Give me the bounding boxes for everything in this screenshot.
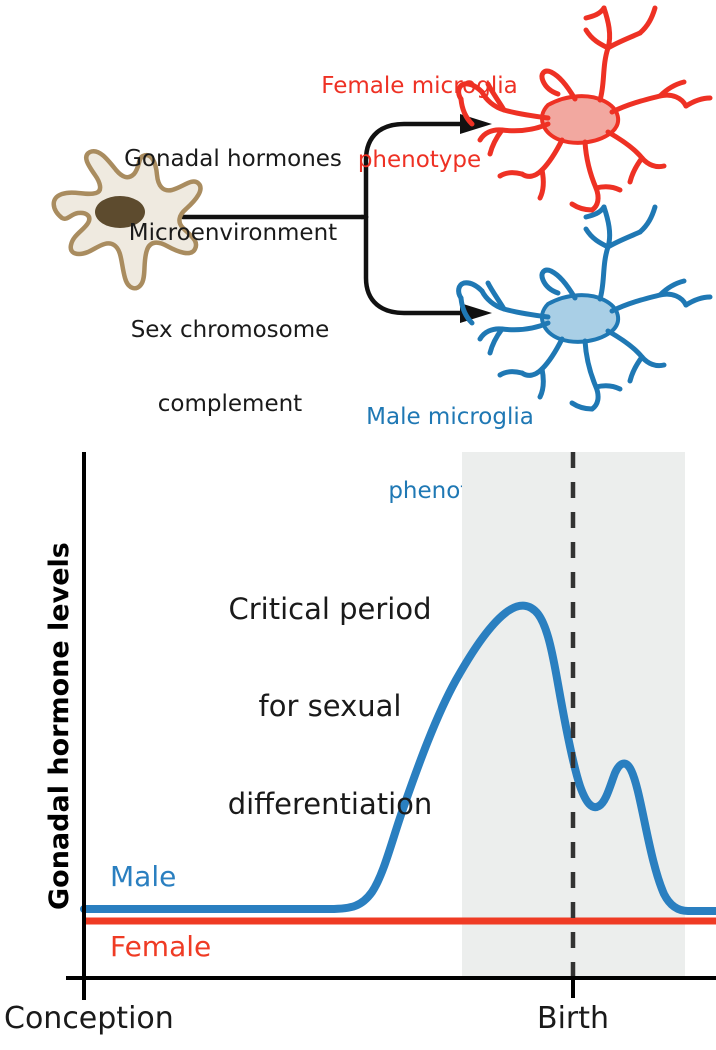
y-axis-title-container: Gonadal hormone levels xyxy=(0,470,60,910)
critical-period-line3: differentiation xyxy=(200,788,460,820)
critical-period-line2: for sexual xyxy=(200,690,460,722)
x-tick-label-birth: Birth xyxy=(493,1003,653,1035)
critical-period-shading xyxy=(462,452,685,978)
critical-period-line1: Critical period xyxy=(200,593,460,625)
figure-root: Gonadal hormones Microenvironment Sex ch… xyxy=(0,0,716,1050)
female-series-label: Female xyxy=(110,932,211,962)
male-series-label: Male xyxy=(110,862,176,892)
chart-graphics xyxy=(0,0,716,1050)
x-tick-label-conception: Conception xyxy=(4,1003,174,1035)
y-axis-title: Gonadal hormone levels xyxy=(44,542,75,910)
critical-period-annotation: Critical period for sexual differentiati… xyxy=(200,528,460,885)
